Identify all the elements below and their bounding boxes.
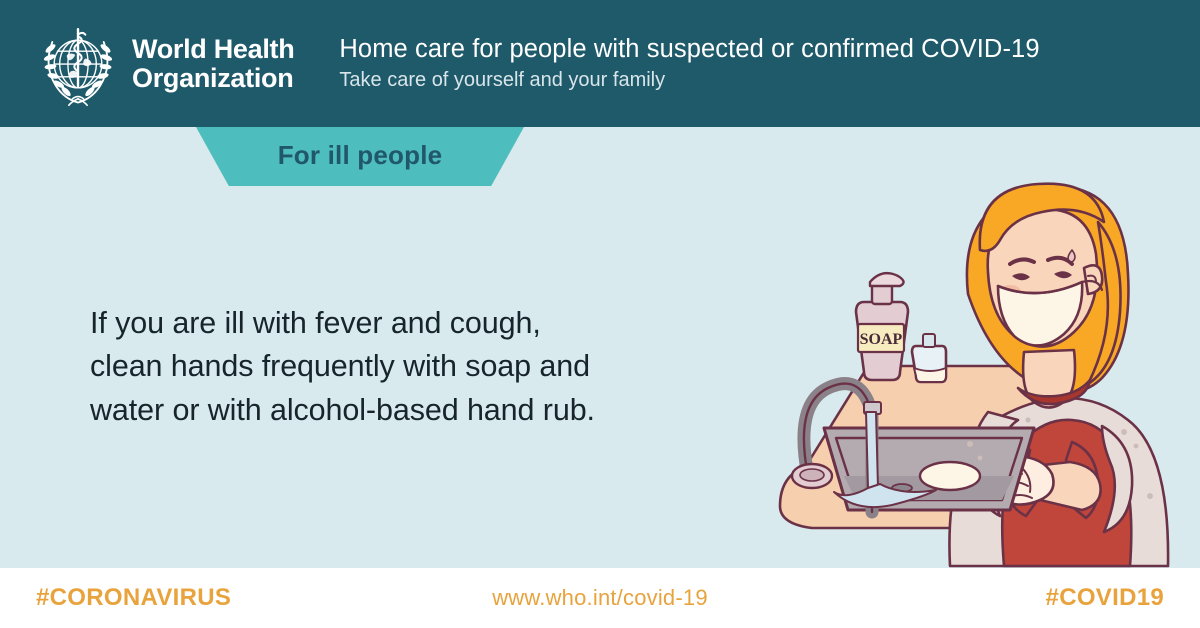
ear [1084, 265, 1102, 294]
footer-bar: #CORONAVIRUS www.who.int/covid-19 #COVID… [0, 568, 1200, 628]
handwashing-illustration-svg: SOAP [772, 176, 1192, 568]
soap-label-text: SOAP [860, 331, 903, 348]
soap-bar [920, 462, 980, 490]
who-wordmark: World Health Organization [132, 35, 294, 92]
who-wordmark-line2: Organization [132, 64, 294, 93]
body-area: For ill people If you are ill with fever… [0, 127, 1200, 568]
hashtag-covid19[interactable]: #COVID19 [1046, 584, 1164, 612]
advice-line-2: clean hands frequently with soap and [90, 345, 710, 388]
water-stream [866, 412, 878, 488]
header-text-block: Home care for people with suspected or c… [339, 34, 1039, 94]
sanitizer-cap [923, 334, 935, 347]
who-covid-infographic: World Health Organization Home care for … [0, 0, 1200, 628]
who-logo: World Health Organization [32, 20, 294, 108]
advice-line-3: water or with alcohol-based hand rub. [90, 389, 710, 432]
who-url[interactable]: www.who.int/covid-19 [0, 585, 1200, 611]
who-emblem-icon [32, 20, 124, 108]
for-ill-people-banner: For ill people [196, 127, 524, 186]
sanitizer-liquid [914, 368, 946, 382]
header-bar: World Health Organization Home care for … [0, 0, 1200, 127]
who-wordmark-line1: World Health [132, 35, 294, 64]
advice-line-1: If you are ill with fever and cough, [90, 302, 710, 345]
handwashing-illustration: SOAP [772, 176, 1192, 568]
header-title: Home care for people with suspected or c… [339, 34, 1039, 65]
header-subtitle: Take care of yourself and your family [339, 67, 1039, 93]
advice-message: If you are ill with fever and cough, cle… [90, 302, 710, 432]
banner-label: For ill people [278, 140, 443, 174]
soap-pump [870, 273, 904, 286]
